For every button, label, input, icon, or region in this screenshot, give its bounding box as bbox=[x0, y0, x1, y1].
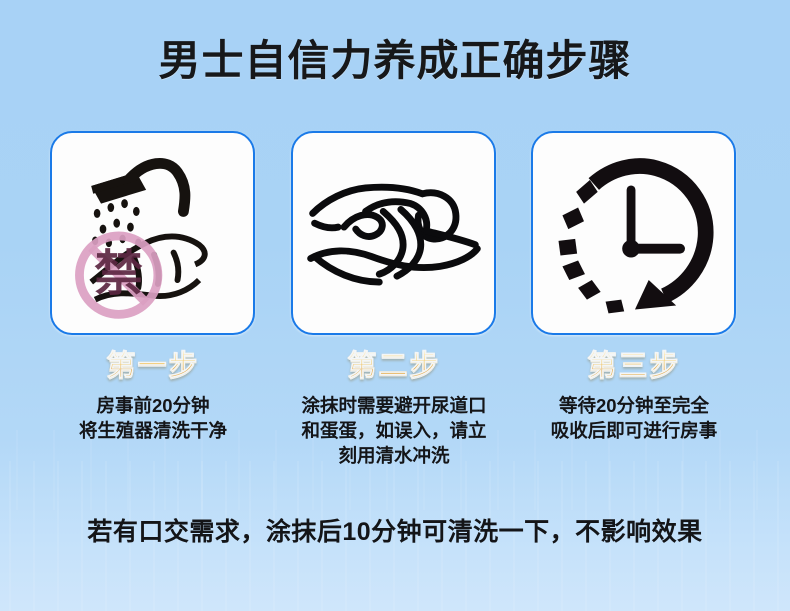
page-title: 男士自信力养成正确步骤 bbox=[0, 38, 790, 84]
hand-applying-icon bbox=[293, 133, 494, 333]
step-1-label: 第一步 bbox=[33, 350, 273, 383]
step-2-description: 涂抹时需要避开尿道口 和蛋蛋，如误入，请立 刻用清水冲洗 bbox=[274, 394, 514, 468]
shower-forbidden-icon: 禁 bbox=[52, 133, 253, 333]
step-1: 第一步 房事前20分钟 将生殖器清洗干净 bbox=[33, 350, 273, 444]
footer-note: 若有口交需求，涂抹后10分钟可清洗一下，不影响效果 bbox=[0, 512, 790, 548]
step-1-line-2: 将生殖器清洗干净 bbox=[33, 419, 273, 444]
step-3-description: 等待20分钟至完全 吸收后即可进行房事 bbox=[514, 394, 754, 443]
step-3-line-1: 等待20分钟至完全 bbox=[514, 394, 754, 419]
step-2-line-3: 刻用清水冲洗 bbox=[274, 444, 514, 469]
icon-card-step-3 bbox=[531, 131, 736, 335]
step-2: 第二步 涂抹时需要避开尿道口 和蛋蛋，如误入，请立 刻用清水冲洗 bbox=[274, 350, 514, 468]
step-text-row: 第一步 房事前20分钟 将生殖器清洗干净 第二步 涂抹时需要避开尿道口 和蛋蛋，… bbox=[0, 350, 790, 490]
poster-root: 男士自信力养成正确步骤 bbox=[0, 0, 790, 611]
forbidden-character: 禁 bbox=[94, 245, 143, 302]
icon-card-step-1: 禁 bbox=[50, 131, 255, 335]
step-3: 第三步 等待20分钟至完全 吸收后即可进行房事 bbox=[514, 350, 754, 444]
step-1-line-1: 房事前20分钟 bbox=[33, 394, 273, 419]
step-3-line-2: 吸收后即可进行房事 bbox=[514, 419, 754, 444]
step-2-line-2: 和蛋蛋，如误入，请立 bbox=[274, 419, 514, 444]
step-2-label: 第二步 bbox=[274, 350, 514, 383]
step-2-line-1: 涂抹时需要避开尿道口 bbox=[274, 394, 514, 419]
icon-card-step-2 bbox=[291, 131, 496, 335]
step-3-label: 第三步 bbox=[514, 350, 754, 383]
clock-wait-icon bbox=[533, 133, 734, 333]
step-1-description: 房事前20分钟 将生殖器清洗干净 bbox=[33, 394, 273, 443]
icon-card-row: 禁 bbox=[0, 131, 790, 337]
